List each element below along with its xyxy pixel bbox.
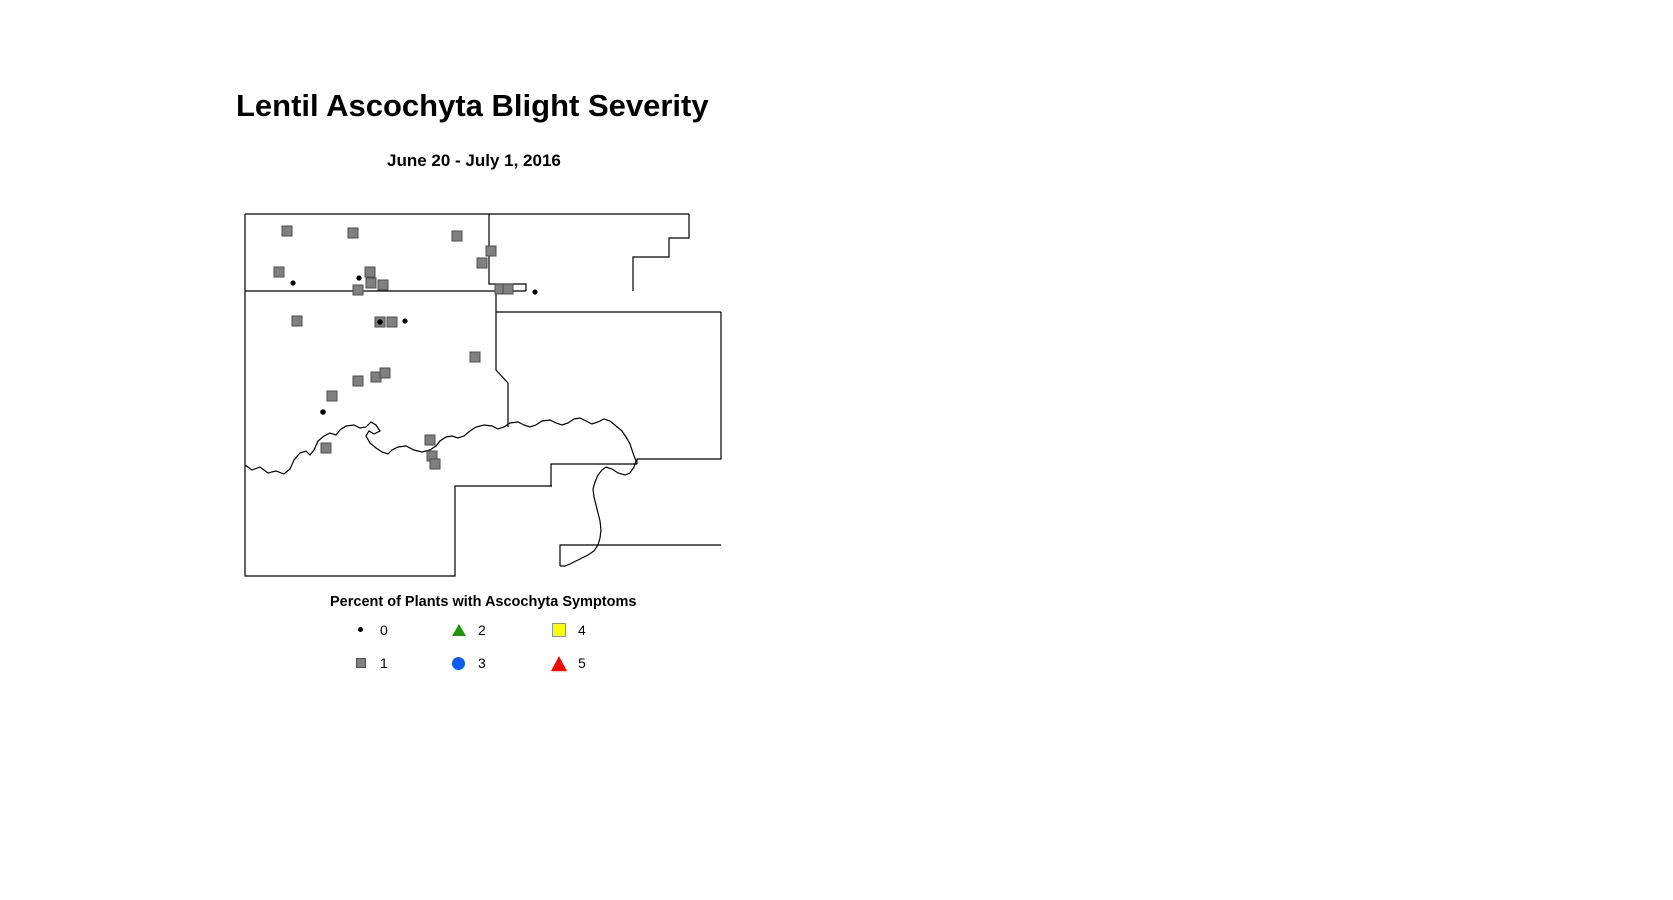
- data-point-marker: [365, 267, 375, 277]
- data-point-marker: [290, 280, 295, 285]
- data-point-marker: [380, 368, 390, 378]
- legend-item-3[interactable]: 3: [448, 652, 486, 674]
- data-point-marker: [470, 352, 480, 362]
- data-point-marker: [402, 318, 407, 323]
- county-divider-vertical-middle: [496, 312, 508, 427]
- data-point-marker: [425, 435, 435, 445]
- legend-item-0[interactable]: 0: [350, 619, 388, 641]
- data-point-marker: [486, 246, 496, 256]
- legend-item-label: 1: [380, 652, 388, 674]
- legend-item-label: 2: [478, 619, 486, 641]
- legend-title: Percent of Plants with Ascochyta Symptom…: [330, 594, 636, 610]
- data-point-marker: [477, 258, 487, 268]
- data-point-marker: [366, 278, 376, 288]
- data-point-marker: [282, 226, 292, 236]
- data-point-marker: [378, 280, 388, 290]
- data-point-marker: [292, 316, 302, 326]
- legend-item-4[interactable]: 4: [548, 619, 586, 641]
- severity-4-icon: [548, 619, 570, 641]
- map-svg: [240, 205, 740, 590]
- region-outline-south-east-block: [560, 545, 721, 566]
- data-point-marker: [327, 391, 337, 401]
- map-plot-area: [240, 205, 740, 590]
- legend-item-label: 3: [478, 652, 486, 674]
- severity-5-icon: [548, 652, 570, 674]
- data-point-marker: [387, 317, 397, 327]
- data-point-marker: [353, 285, 363, 295]
- data-point-marker: [532, 289, 537, 294]
- severity-0-icon: [350, 619, 372, 641]
- region-outline-east: [637, 312, 721, 464]
- data-point-marker: [274, 267, 284, 277]
- region-outline-northeast-step: [633, 214, 689, 291]
- legend-item-label: 4: [578, 619, 586, 641]
- data-point-marker: [353, 376, 363, 386]
- figure-subtitle: June 20 - July 1, 2016: [387, 151, 561, 171]
- data-point-marker: [430, 459, 440, 469]
- page-title: Lentil Ascochyta Blight Severity: [236, 88, 709, 124]
- figure-canvas: Lentil Ascochyta Blight Severity June 20…: [0, 0, 1673, 900]
- data-point-marker: [348, 228, 358, 238]
- legend-item-1[interactable]: 1: [350, 652, 388, 674]
- legend-item-label: 0: [380, 619, 388, 641]
- data-point-marker: [356, 275, 361, 280]
- legend-item-5[interactable]: 5: [548, 652, 586, 674]
- legend: Percent of Plants with Ascochyta Symptom…: [320, 590, 720, 685]
- legend-item-2[interactable]: 2: [448, 619, 486, 641]
- data-point-marker: [377, 319, 383, 325]
- data-point-marker: [503, 284, 513, 294]
- region-outline-west: [245, 214, 552, 576]
- severity-1-icon: [350, 652, 372, 674]
- data-point-marker: [321, 443, 331, 453]
- severity-3-icon: [448, 652, 470, 674]
- legend-item-label: 5: [578, 652, 586, 674]
- data-point-marker: [452, 231, 462, 241]
- severity-2-icon: [448, 619, 470, 641]
- data-point-markers: [274, 226, 538, 469]
- data-point-marker: [320, 409, 326, 415]
- river-boundary: [245, 418, 636, 566]
